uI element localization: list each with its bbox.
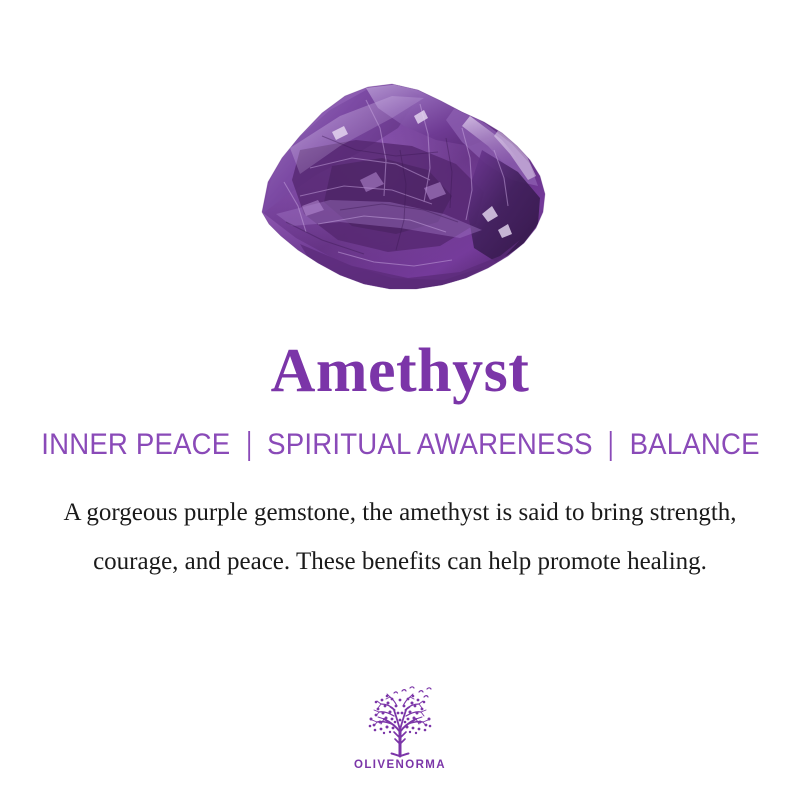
tagline-keyword-balance: BALANCE bbox=[627, 428, 761, 462]
tagline-separator-2 bbox=[610, 431, 612, 461]
amethyst-raw-stone-image bbox=[0, 0, 800, 312]
page-title: Amethyst bbox=[271, 340, 530, 402]
tagline-separator-1 bbox=[247, 431, 249, 461]
brand-logo: OLIVENORMA bbox=[340, 686, 460, 771]
product-card: Amethyst INNER PEACE SPIRITUAL AWARENESS… bbox=[0, 0, 800, 800]
tree-of-life-icon bbox=[354, 686, 446, 758]
tagline: INNER PEACE SPIRITUAL AWARENESS BALANCE bbox=[39, 428, 761, 462]
tagline-keyword-inner-peace: INNER PEACE bbox=[39, 428, 232, 462]
gem-body bbox=[250, 75, 560, 300]
product-description: A gorgeous purple gemstone, the amethyst… bbox=[50, 488, 750, 586]
brand-name: OLIVENORMA bbox=[354, 759, 446, 771]
tagline-keyword-spiritual-awareness: SPIRITUAL AWARENESS bbox=[265, 428, 594, 462]
gem-image-container bbox=[0, 0, 800, 312]
